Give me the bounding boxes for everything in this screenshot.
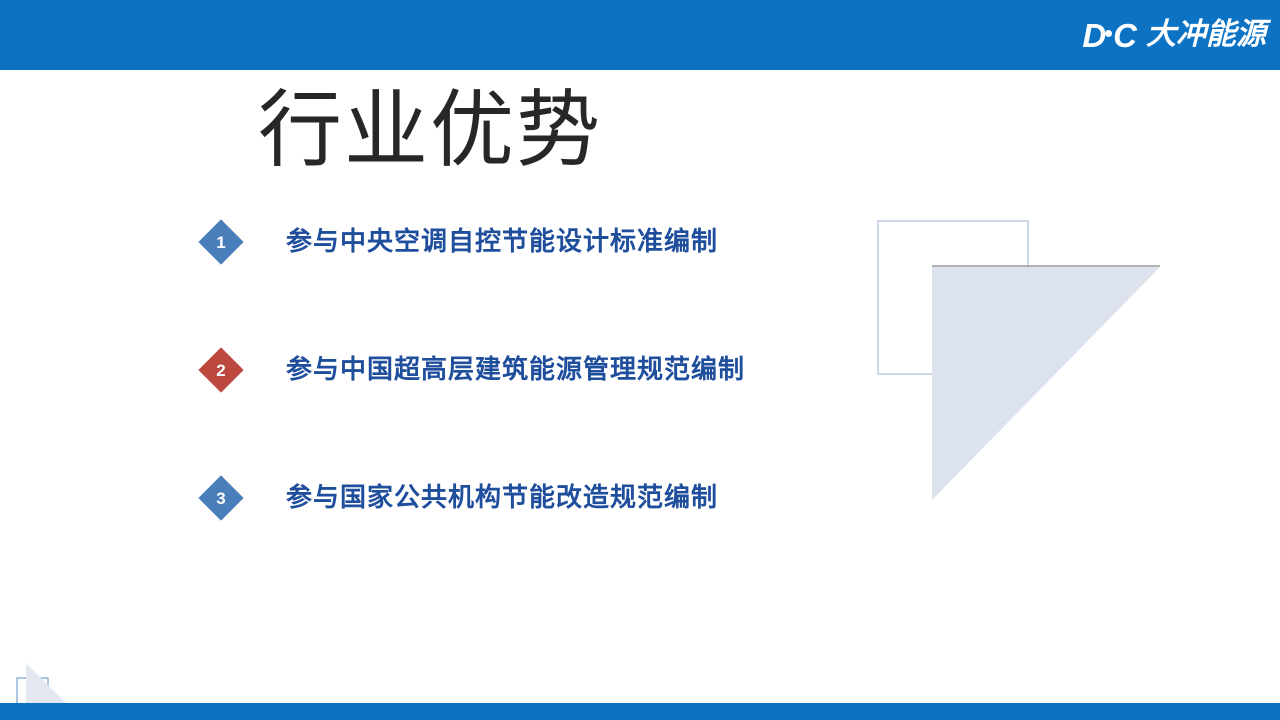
company-logo: DC 大冲能源 bbox=[1082, 13, 1266, 57]
list-item[interactable]: 1 参与中央空调自控节能设计标准编制 bbox=[198, 219, 898, 265]
decoration-triangle-icon bbox=[932, 267, 1160, 500]
decoration-square-triangle-large bbox=[860, 205, 1180, 525]
list-item[interactable]: 3 参与国家公共机构节能改造规范编制 bbox=[198, 475, 898, 521]
diamond-badge-3: 3 bbox=[198, 475, 244, 521]
list-item-label: 参与中国超高层建筑能源管理规范编制 bbox=[286, 357, 745, 383]
footer-bar bbox=[0, 703, 1280, 720]
diamond-number: 1 bbox=[198, 219, 244, 265]
diamond-number: 3 bbox=[198, 475, 244, 521]
decoration-large-svg bbox=[860, 205, 1180, 525]
logo-dot-icon bbox=[1105, 30, 1112, 37]
page-title: 行业优势 bbox=[258, 82, 602, 179]
diamond-number: 2 bbox=[198, 347, 244, 393]
diamond-badge-1: 1 bbox=[198, 219, 244, 265]
list-item-label: 参与国家公共机构节能改造规范编制 bbox=[286, 485, 718, 511]
list-item[interactable]: 2 参与中国超高层建筑能源管理规范编制 bbox=[198, 347, 898, 393]
diamond-badge-2: 2 bbox=[198, 347, 244, 393]
advantages-list: 1 参与中央空调自控节能设计标准编制 2 参与中国超高层建筑能源管理规范编制 3… bbox=[198, 219, 898, 521]
logo-mark-letter-d: D bbox=[1082, 19, 1105, 52]
logo-mark-letter-c: C bbox=[1113, 19, 1136, 52]
header-bar: DC 大冲能源 bbox=[0, 0, 1280, 70]
decoration-triangle-icon bbox=[26, 663, 66, 703]
slide-canvas: DC 大冲能源 行业优势 1 参与中央空调自控节能设计标准编制 2 参与中国超高… bbox=[0, 0, 1280, 720]
logo-mark-dc: DC bbox=[1082, 19, 1136, 52]
logo-company-name: 大冲能源 bbox=[1146, 20, 1266, 50]
list-item-label: 参与中央空调自控节能设计标准编制 bbox=[286, 229, 718, 255]
